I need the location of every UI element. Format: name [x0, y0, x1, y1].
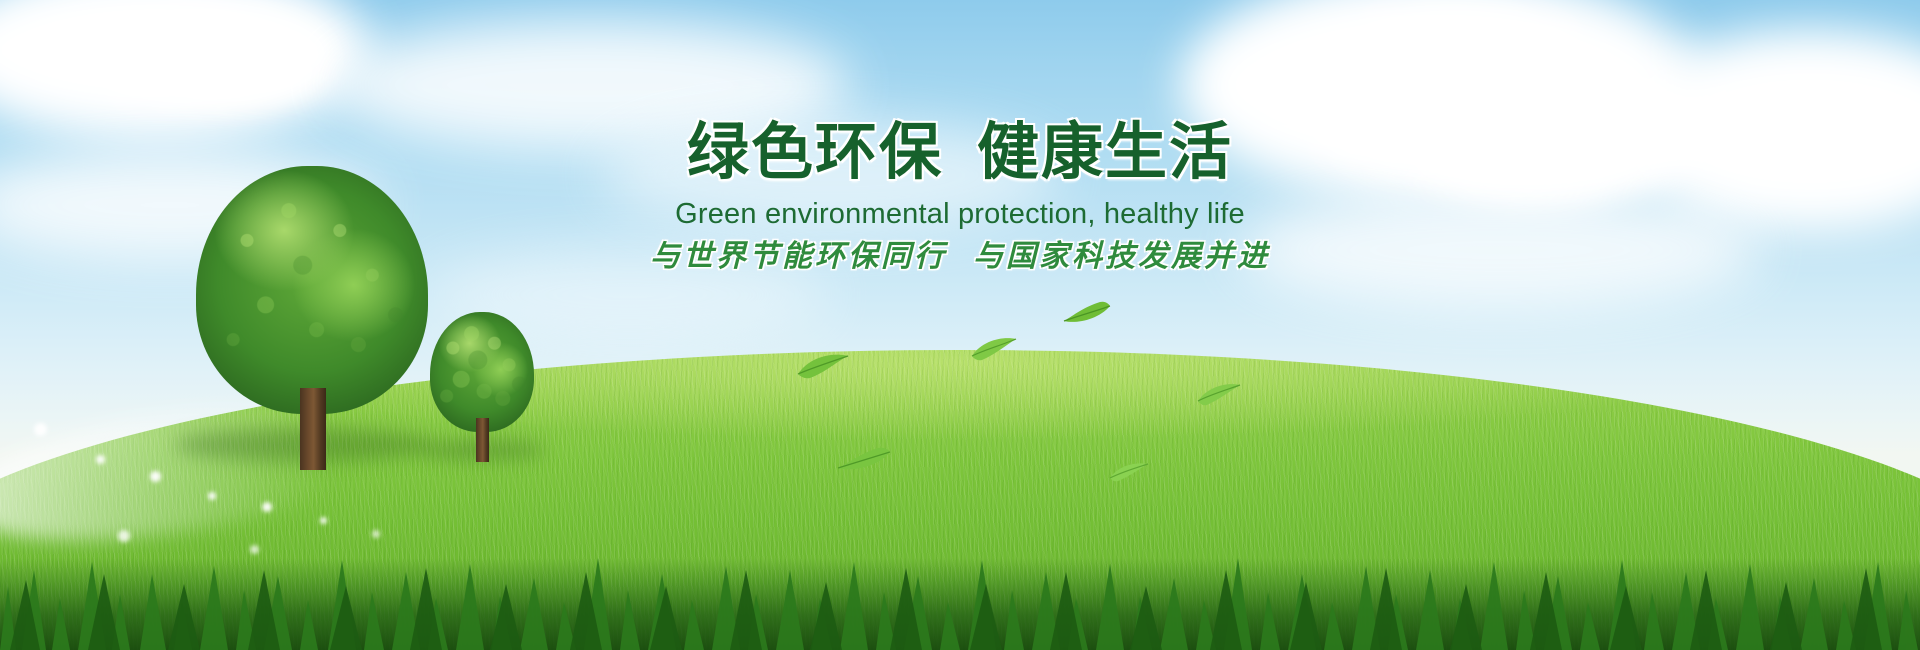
grass-blades [0, 540, 1920, 650]
tagline-phrase-2: 与国家科技发展并进 [973, 239, 1270, 274]
cloud-icon [1240, 190, 1760, 310]
leaf-icon [796, 352, 850, 382]
eco-banner: 绿色环保健康生活 Green environmental protection,… [0, 0, 1920, 650]
leaf-icon [836, 446, 892, 474]
tree-crown [196, 166, 428, 414]
cloud-icon [140, 40, 320, 102]
leaf-icon [1062, 300, 1112, 326]
tree-large [196, 166, 428, 466]
tree-small [430, 312, 534, 462]
leaf-icon [1196, 382, 1242, 408]
tree-trunk [476, 418, 489, 462]
tree-crown [430, 312, 534, 432]
cloud-icon [600, 120, 1060, 230]
leaf-icon [1108, 462, 1150, 484]
tree-trunk [300, 388, 326, 470]
leaf-icon [970, 336, 1018, 364]
